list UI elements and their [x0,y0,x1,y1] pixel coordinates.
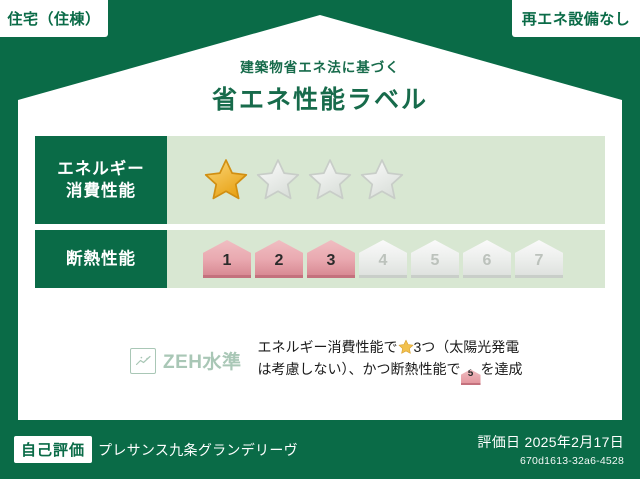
insulation-grade-active: 2 [255,240,303,278]
insulation-grade-inactive: 5 [411,240,459,278]
self-evaluation-badge: 自己評価 [14,436,92,463]
row-energy-performance: エネルギー 消費性能 [35,136,605,224]
star-empty-icon [307,157,353,203]
zeh-description-line1: エネルギー消費性能で3つ（太陽光発電 [258,336,523,358]
row-energy-performance-label: エネルギー 消費性能 [35,136,167,224]
building-name: プレサンス九条グランデリーヴ [98,440,298,460]
star-filled-icon [203,157,249,203]
star-empty-icon [255,157,301,203]
zeh-description: エネルギー消費性能で3つ（太陽光発電 は考慮しない）、かつ断熱性能で5を達成 [258,336,523,385]
title-subtitle: 建築物省エネ法に基づく [0,56,640,76]
footer: 自己評価 プレサンス九条グランデリーヴ 評価日 2025年2月17日 670d1… [0,420,640,479]
title-block: 建築物省エネ法に基づく 省エネ性能ラベル [0,56,640,116]
page-title: 省エネ性能ラベル [0,80,640,116]
badge-building-type-label: 住宅（住棟） [7,8,100,29]
zeh-chart-icon [130,348,156,374]
row-energy-label-line1: エネルギー [57,158,145,180]
zeh-mark-label: ZEH水準 [163,347,242,374]
row-insulation-performance-label: 断熱性能 [35,230,167,288]
zeh-line2-text-b: を達成 [481,361,523,377]
row-energy-performance-value [167,136,605,224]
star-rating [203,157,405,203]
insulation-grade-scale: 1234567 [203,240,563,278]
row-energy-label-line2: 消費性能 [66,180,136,202]
row-insulation-label: 断熱性能 [66,248,136,270]
insulation-grade-inactive: 6 [463,240,511,278]
inline-star-icon [398,339,414,355]
insulation-grade-active: 3 [307,240,355,278]
insulation-grade-active: 1 [203,240,251,278]
rating-table: エネルギー 消費性能 断熱性能 1234567 [35,136,605,294]
row-insulation-performance: 断熱性能 1234567 [35,230,605,288]
zeh-description-line2: は考慮しない）、かつ断熱性能で5を達成 [258,358,523,385]
zeh-line1-text-a: エネルギー消費性能で [258,339,398,355]
footer-right: 評価日 2025年2月17日 670d1613-32a6-4528 [477,432,624,467]
evaluation-date: 評価日 2025年2月17日 [477,432,624,452]
inline-insulation-grade-badge: 5 [461,369,481,385]
energy-label-card: 住宅（住棟） 再エネ設備なし 建築物省エネ法に基づく 省エネ性能ラベル エネルギ… [0,0,640,479]
footer-left: 自己評価 プレサンス九条グランデリーヴ [14,436,298,463]
star-empty-icon [359,157,405,203]
badge-renewable-energy: 再エネ設備なし [512,0,640,37]
document-id: 670d1613-32a6-4528 [477,455,624,467]
zeh-standard-note: ZEH水準 エネルギー消費性能で3つ（太陽光発電 は考慮しない）、かつ断熱性能で… [130,336,523,385]
badge-building-type: 住宅（住棟） [0,0,108,37]
zeh-line2-text-a: は考慮しない）、かつ断熱性能で [258,361,461,377]
insulation-grade-inactive: 7 [515,240,563,278]
zeh-mark: ZEH水準 [130,347,242,374]
insulation-grade-inactive: 4 [359,240,407,278]
badge-renewable-energy-label: 再エネ設備なし [522,8,631,29]
row-insulation-performance-value: 1234567 [167,230,605,288]
zeh-line1-text-b: 3つ（太陽光発電 [414,339,520,355]
